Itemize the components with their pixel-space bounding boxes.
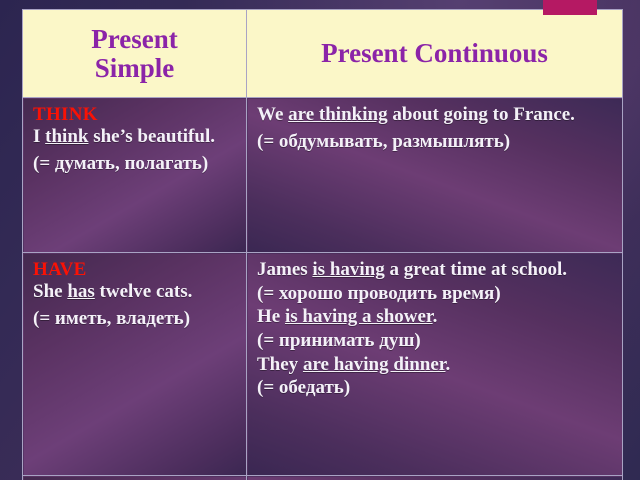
translation-gloss: (= думать, полагать) bbox=[33, 153, 238, 175]
sentence-post: a great time at school. bbox=[385, 259, 567, 280]
sentence-post: . bbox=[445, 354, 450, 375]
sentence-pre: They bbox=[257, 354, 303, 375]
translation-gloss: (= иметь, владеть) bbox=[33, 308, 238, 330]
sentence-post: she’s beautiful. bbox=[88, 126, 215, 147]
sentence-pre: I bbox=[33, 126, 45, 147]
example-sentence: We are thinking about going to France. bbox=[257, 104, 614, 126]
sentence-pre: James bbox=[257, 259, 312, 280]
sentence-underlined: is having a shower bbox=[285, 306, 433, 327]
sentence-underlined: are having dinner bbox=[303, 354, 446, 375]
table-row: THINK I think she’s beautiful. (= думать… bbox=[23, 98, 623, 253]
header-present-continuous-line1: Present Continuous bbox=[321, 38, 548, 68]
sentence-post: about going to France. bbox=[388, 104, 575, 125]
example-sentence: He is having a shower. bbox=[257, 306, 614, 328]
example-sentence: James is having a great time at school. bbox=[257, 259, 614, 281]
verb-title-have: HAVE bbox=[33, 259, 238, 280]
cell-see-continuous: I’m seeing John this bbox=[247, 476, 623, 480]
column-header-present-continuous: Present Continuous bbox=[247, 10, 623, 98]
sentence-underlined: is having bbox=[312, 259, 384, 280]
example-sentence: I think she’s beautiful. bbox=[33, 126, 238, 148]
table-body: THINK I think she’s beautiful. (= думать… bbox=[23, 98, 623, 480]
column-header-present-simple: Present Simple bbox=[23, 10, 247, 98]
grammar-comparison-table: Present Simple Present Continuous T bbox=[22, 9, 623, 480]
table-header-row: Present Simple Present Continuous bbox=[23, 10, 623, 98]
sentence-underlined: are thinking bbox=[288, 104, 387, 125]
translation-gloss: (= обдумывать, размышлять) bbox=[257, 131, 614, 153]
cell-have-simple: HAVE She has twelve cats. (= иметь, влад… bbox=[23, 253, 247, 476]
cell-see-simple: SEE bbox=[23, 476, 247, 480]
sentence-pre: He bbox=[257, 306, 285, 327]
sentence-underlined: has bbox=[67, 281, 94, 302]
cell-have-continuous: James is having a great time at school. … bbox=[247, 253, 623, 476]
cell-think-continuous: We are thinking about going to France. (… bbox=[247, 98, 623, 253]
header-present-simple-line2: Simple bbox=[95, 53, 175, 83]
table-row: HAVE She has twelve cats. (= иметь, влад… bbox=[23, 253, 623, 476]
translation-gloss: (= обедать) bbox=[257, 377, 614, 399]
translation-gloss: (= принимать душ) bbox=[257, 330, 614, 352]
cell-think-simple: THINK I think she’s beautiful. (= думать… bbox=[23, 98, 247, 253]
grammar-table-container: Present Simple Present Continuous T bbox=[22, 9, 622, 480]
accent-tab-decoration bbox=[543, 0, 597, 15]
sentence-post: twelve cats. bbox=[95, 281, 193, 302]
example-sentence: She has twelve cats. bbox=[33, 281, 238, 303]
slide-canvas: Present Simple Present Continuous T bbox=[0, 0, 640, 480]
sentence-pre: We bbox=[257, 104, 288, 125]
sentence-underlined: think bbox=[45, 126, 88, 147]
sentence-pre: She bbox=[33, 281, 67, 302]
verb-title-think: THINK bbox=[33, 104, 238, 125]
translation-gloss: (= хорошо проводить время) bbox=[257, 283, 614, 305]
sentence-post: . bbox=[433, 306, 438, 327]
table-row: SEE I’m seeing John this bbox=[23, 476, 623, 480]
example-sentence: They are having dinner. bbox=[257, 354, 614, 376]
header-present-simple-line1: Present bbox=[91, 24, 177, 54]
